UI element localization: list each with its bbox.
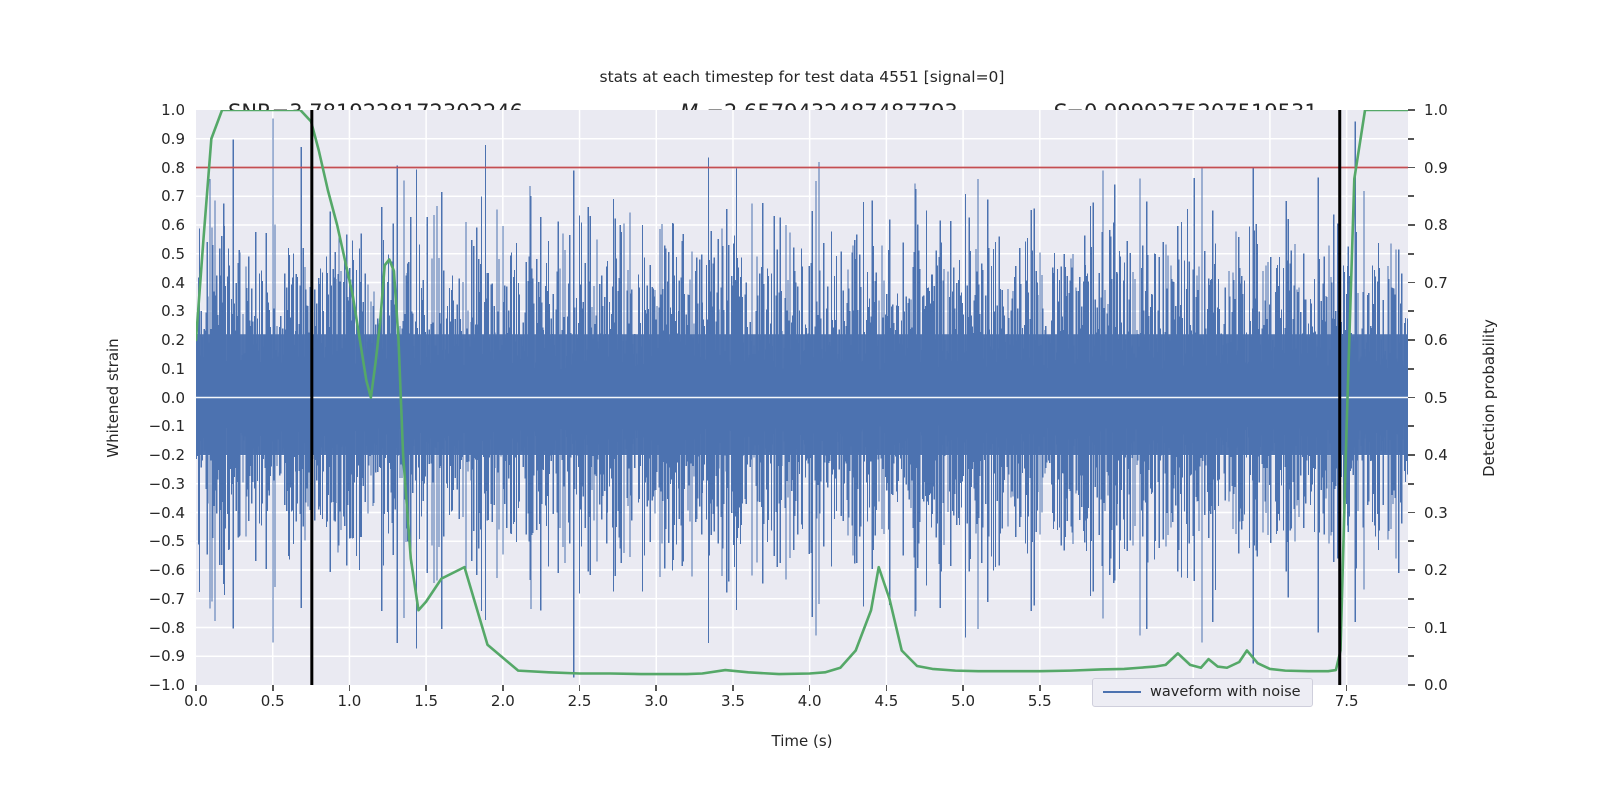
- y-tick-label-left: 1.0: [161, 101, 185, 119]
- y-tick-mark-left: [1408, 310, 1414, 312]
- x-tick-mark: [272, 685, 274, 691]
- page-title: stats at each timestep for test data 455…: [196, 68, 1408, 86]
- y-tick-mark-right: [1409, 512, 1415, 514]
- x-tick-mark: [1346, 685, 1348, 691]
- y-tick-label-left: 0.7: [161, 187, 185, 205]
- y-tick-label-right: 0.9: [1424, 159, 1448, 177]
- x-tick-label: 4.5: [874, 692, 898, 710]
- y-axis-label-right: Detection probability: [1480, 319, 1498, 477]
- y-tick-mark-right: [1409, 454, 1415, 456]
- y-tick-mark-right: [1409, 684, 1415, 686]
- y-tick-label-left: −1.0: [149, 676, 185, 694]
- y-tick-label-left: −0.8: [149, 619, 185, 637]
- x-tick-mark: [962, 685, 964, 691]
- figure-canvas: stats at each timestep for test data 455…: [0, 0, 1600, 800]
- x-tick-mark: [732, 685, 734, 691]
- x-tick-label: 2.5: [568, 692, 592, 710]
- x-axis-label: Time (s): [772, 732, 833, 750]
- y-tick-mark-right: [1409, 224, 1415, 226]
- x-tick-mark: [425, 685, 427, 691]
- y-tick-label-left: 0.1: [161, 360, 185, 378]
- y-tick-mark-left: [1408, 425, 1414, 427]
- y-tick-label-left: −0.1: [149, 417, 185, 435]
- y-tick-mark-left: [1408, 195, 1414, 197]
- x-tick-label: 4.0: [798, 692, 822, 710]
- y-tick-label-left: 0.8: [161, 159, 185, 177]
- legend-item-label: waveform with noise: [1150, 684, 1301, 700]
- x-tick-label: 1.5: [414, 692, 438, 710]
- y-tick-mark-right: [1409, 167, 1415, 169]
- x-tick-mark: [195, 685, 197, 691]
- x-tick-label: 0.0: [184, 692, 208, 710]
- x-tick-label: 0.5: [261, 692, 285, 710]
- y-tick-label-right: 0.2: [1424, 561, 1448, 579]
- x-tick-mark: [502, 685, 504, 691]
- x-tick-mark: [1039, 685, 1041, 691]
- overlay-series: [196, 110, 1408, 685]
- y-axis-label-left: Whitened strain: [104, 338, 122, 457]
- y-tick-label-left: 0.5: [161, 245, 185, 263]
- y-tick-label-right: 0.7: [1424, 274, 1448, 292]
- x-tick-mark: [655, 685, 657, 691]
- y-tick-label-right: 0.6: [1424, 331, 1448, 349]
- x-tick-mark: [809, 685, 811, 691]
- y-tick-label-right: 1.0: [1424, 101, 1448, 119]
- y-tick-label-right: 0.3: [1424, 504, 1448, 522]
- y-tick-label-right: 0.1: [1424, 619, 1448, 637]
- y-tick-label-left: 0.3: [161, 302, 185, 320]
- x-tick-label: 1.0: [337, 692, 361, 710]
- y-tick-label-left: −0.7: [149, 590, 185, 608]
- x-tick-mark: [349, 685, 351, 691]
- y-tick-label-right: 0.8: [1424, 216, 1448, 234]
- y-tick-mark-right: [1409, 339, 1415, 341]
- legend-line-swatch-icon: [1103, 691, 1141, 694]
- y-tick-mark-right: [1409, 627, 1415, 629]
- y-tick-mark-right: [1409, 109, 1415, 111]
- y-tick-label-right: 0.5: [1424, 389, 1448, 407]
- chart-legend: waveform with noise: [1092, 678, 1313, 707]
- y-tick-mark-left: [1408, 138, 1414, 140]
- y-tick-label-right: 0.4: [1424, 446, 1448, 464]
- y-tick-mark-left: [1408, 540, 1414, 542]
- x-tick-label: 3.5: [721, 692, 745, 710]
- y-tick-mark-right: [1409, 397, 1415, 399]
- y-tick-label-left: −0.5: [149, 532, 185, 550]
- y-tick-mark-left: [1408, 483, 1414, 485]
- y-tick-mark-left: [1408, 598, 1414, 600]
- y-tick-label-left: −0.3: [149, 475, 185, 493]
- x-tick-mark: [579, 685, 581, 691]
- y-tick-mark-left: [1408, 368, 1414, 370]
- y-tick-mark-right: [1409, 569, 1415, 571]
- y-tick-label-left: −0.4: [149, 504, 185, 522]
- y-tick-label-right: 0.0: [1424, 676, 1448, 694]
- x-tick-label: 3.0: [644, 692, 668, 710]
- y-tick-label-left: 0.2: [161, 331, 185, 349]
- y-tick-mark-left: [1408, 253, 1414, 255]
- y-tick-label-left: 0.0: [161, 389, 185, 407]
- y-tick-label-left: −0.9: [149, 647, 185, 665]
- x-tick-label: 5.0: [951, 692, 975, 710]
- y-tick-mark-left: [1408, 655, 1414, 657]
- y-tick-label-left: −0.2: [149, 446, 185, 464]
- x-tick-mark: [886, 685, 888, 691]
- y-tick-label-left: 0.4: [161, 274, 185, 292]
- y-tick-label-left: −0.6: [149, 561, 185, 579]
- x-tick-label: 2.0: [491, 692, 515, 710]
- x-tick-label: 7.5: [1335, 692, 1359, 710]
- y-tick-label-left: 0.9: [161, 130, 185, 148]
- plot-area: [196, 110, 1408, 685]
- x-tick-label: 5.5: [1028, 692, 1052, 710]
- y-tick-label-left: 0.6: [161, 216, 185, 234]
- y-tick-mark-right: [1409, 282, 1415, 284]
